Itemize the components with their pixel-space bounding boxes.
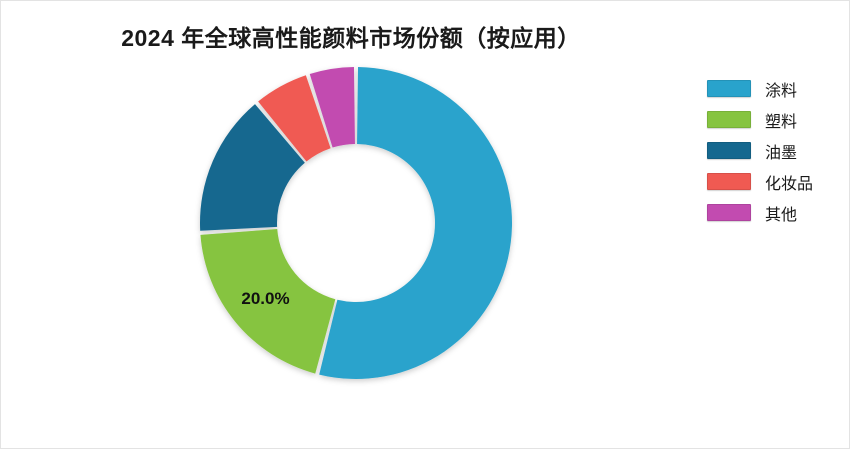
legend-swatch-icon-1 xyxy=(707,111,751,128)
legend-item-2[interactable]: 油墨 xyxy=(707,135,847,166)
chart-card: 2024 年全球高性能颜料市场份额（按应用） 20.0% 涂料 塑料 油墨 xyxy=(0,0,850,449)
legend-swatch-icon-0 xyxy=(707,80,751,97)
legend-swatch-icon-4 xyxy=(707,204,751,221)
legend-label-0: 涂料 xyxy=(765,77,797,101)
legend-swatch-icon-3 xyxy=(707,173,751,190)
slice-data-label-塑料: 20.0% xyxy=(241,289,289,308)
donut-slice-group xyxy=(200,67,512,379)
chart-legend: 涂料 塑料 油墨 化妆品 其他 xyxy=(707,73,847,228)
donut-label-group: 20.0% xyxy=(241,289,289,308)
plot-area: 20.0% xyxy=(1,1,701,449)
donut-chart: 20.0% xyxy=(151,41,571,401)
legend-label-3: 化妆品 xyxy=(765,170,813,194)
legend-label-1: 塑料 xyxy=(765,108,797,132)
legend-swatch-icon-2 xyxy=(707,142,751,159)
legend-item-1[interactable]: 塑料 xyxy=(707,104,847,135)
legend-item-4[interactable]: 其他 xyxy=(707,197,847,228)
legend-label-2: 油墨 xyxy=(765,139,797,163)
legend-label-4: 其他 xyxy=(765,201,797,225)
legend-item-0[interactable]: 涂料 xyxy=(707,73,847,104)
legend-item-3[interactable]: 化妆品 xyxy=(707,166,847,197)
